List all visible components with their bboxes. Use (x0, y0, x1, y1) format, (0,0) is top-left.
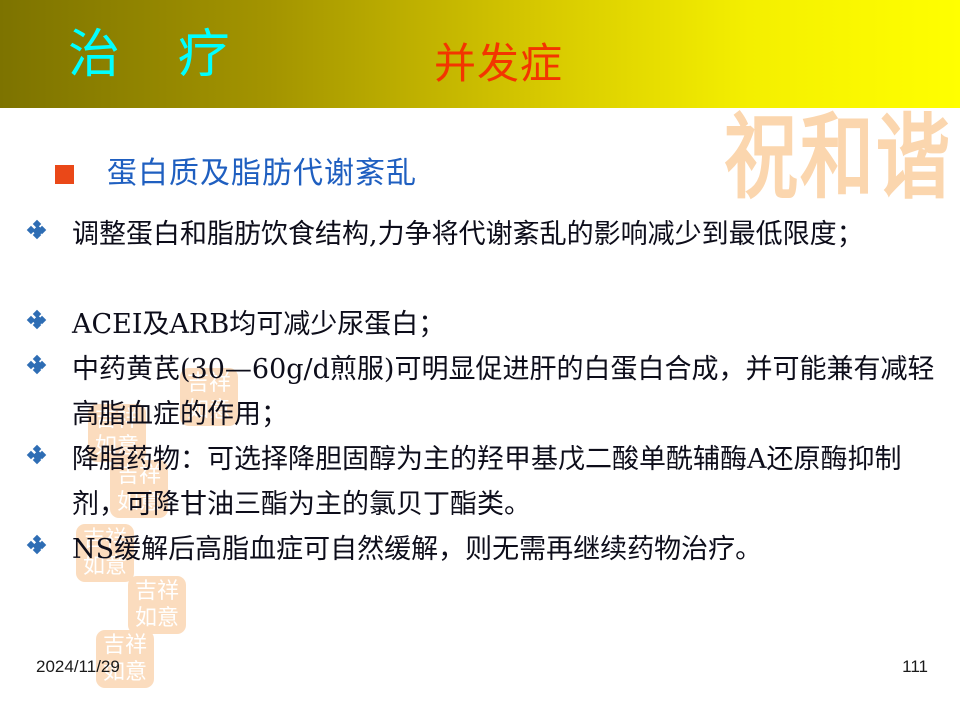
list-item: 降脂药物：可选择降胆固醇为主的羟甲基戊二酸单酰辅酶A还原酶抑制剂，可降甘油三酯为… (28, 437, 948, 527)
diamond-bullet-icon (28, 356, 46, 374)
section-heading: 蛋白质及脂肪代谢紊乱 (55, 156, 417, 192)
list-item: 调整蛋白和脂肪饮食结构,力争将代谢紊乱的影响减少到最低限度； (28, 212, 948, 257)
section-heading-label: 蛋白质及脂肪代谢紊乱 (107, 156, 417, 192)
list-item: 中药黄芪(30—60g/d煎服)可明显促进肝的白蛋白合成，并可能兼有减轻高脂血症… (28, 347, 948, 437)
list-item: NS缓解后高脂血症可自然缓解，则无需再继续药物治疗。 (28, 527, 948, 572)
page-title: 治 疗 (68, 26, 232, 84)
slide-canvas: 祝和谐 吉祥如意 吉祥如意 吉祥如意 吉祥如意 吉祥如意 吉祥如意 治 疗 并发… (0, 0, 960, 720)
diamond-bullet-icon (28, 311, 46, 329)
page-subtitle: 并发症 (434, 40, 563, 88)
list-item-text: 中药黄芪(30—60g/d煎服)可明显促进肝的白蛋白合成，并可能兼有减轻高脂血症… (72, 347, 948, 437)
diamond-bullet-icon (28, 446, 46, 464)
list-item-text: ACEI及ARB均可减少尿蛋白； (72, 302, 445, 347)
list-item-text: 降脂药物：可选择降胆固醇为主的羟甲基戊二酸单酰辅酶A还原酶抑制剂，可降甘油三酯为… (72, 437, 948, 527)
footer-date: 2024/11/29 (36, 656, 120, 678)
list-item: ACEI及ARB均可减少尿蛋白； (28, 302, 948, 347)
diamond-bullet-icon (28, 536, 46, 554)
square-bullet-icon (55, 165, 74, 184)
content-area: 蛋白质及脂肪代谢紊乱 调整蛋白和脂肪饮食结构,力争将代谢紊乱的影响减少到最低限度… (0, 108, 960, 668)
list-item-text: NS缓解后高脂血症可自然缓解，则无需再继续药物治疗。 (72, 527, 762, 572)
footer-page-number: 111 (902, 656, 928, 678)
list-item-text: 调整蛋白和脂肪饮食结构,力争将代谢紊乱的影响减少到最低限度； (72, 212, 864, 257)
diamond-bullet-icon (28, 221, 46, 239)
header-band: 治 疗 并发症 (0, 0, 960, 108)
